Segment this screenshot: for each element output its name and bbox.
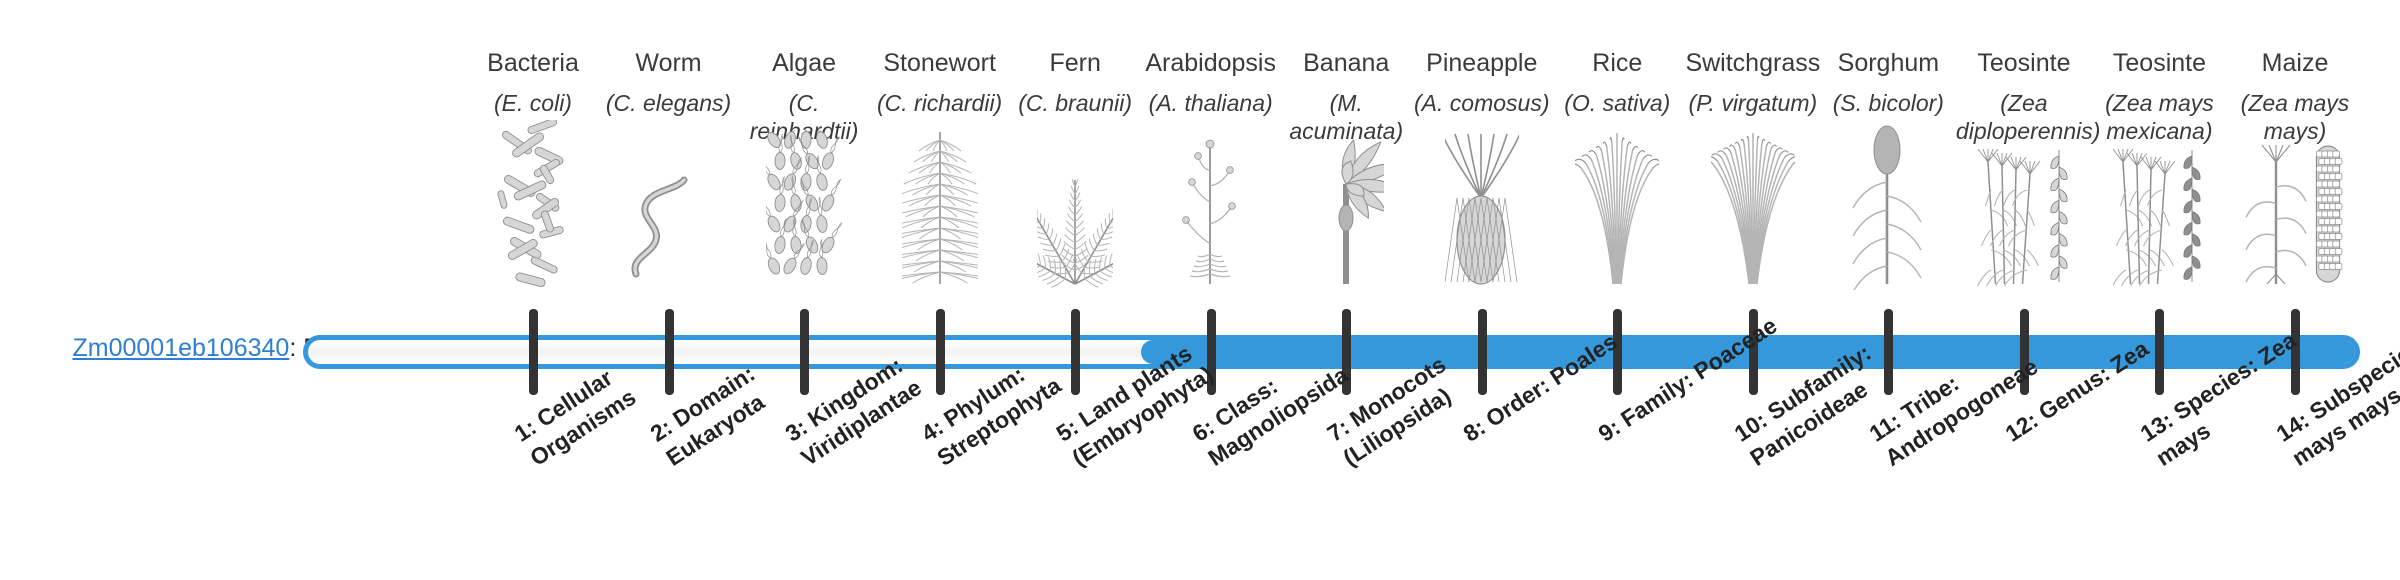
banana-icon xyxy=(1278,160,1414,290)
species-column-8: Pineapple(A. comosus) xyxy=(1414,48,1550,117)
switchgrass-icon xyxy=(1685,160,1821,290)
gene-id-link[interactable]: Zm00001eb106340 xyxy=(72,334,289,362)
species-common-name: Worm xyxy=(601,48,737,78)
species-column-9: Rice(O. sativa) xyxy=(1549,48,1685,117)
phylostratum-figure: Zm00001eb106340: Phylostratum 6 Bacteria… xyxy=(0,0,2400,580)
species-column-1: Bacteria(E. coli) xyxy=(465,48,601,117)
species-common-name: Algae xyxy=(736,48,872,78)
species-latin-name: (A. comosus) xyxy=(1414,89,1550,117)
species-common-name: Switchgrass xyxy=(1685,48,1821,78)
species-common-name: Rice xyxy=(1549,48,1685,78)
bacteria-icon xyxy=(465,160,601,290)
gene-label-separator: : xyxy=(289,334,303,362)
species-common-name: Sorghum xyxy=(1820,48,1956,78)
arabidopsis-icon xyxy=(1143,160,1279,290)
species-column-6: Arabidopsis(A. thaliana) xyxy=(1143,48,1279,117)
species-latin-name: (C. richardii) xyxy=(872,89,1008,117)
species-column-5: Fern(C. braunii) xyxy=(1007,48,1143,117)
species-column-11: Sorghum(S. bicolor) xyxy=(1820,48,1956,117)
fern-icon xyxy=(1007,160,1143,290)
species-column-14: Maize(Zea mays mays) xyxy=(2227,48,2363,145)
species-column-12: Teosinte(Zea diploperennis) xyxy=(1956,48,2092,145)
species-common-name: Stonewort xyxy=(872,48,1008,78)
timeline-tick-1[interactable] xyxy=(529,309,538,395)
species-latin-name: (S. bicolor) xyxy=(1820,89,1956,117)
species-latin-name: (A. thaliana) xyxy=(1143,89,1279,117)
species-column-13: Teosinte(Zea mays mexicana) xyxy=(2091,48,2227,145)
species-common-name: Arabidopsis xyxy=(1143,48,1279,78)
species-common-name: Pineapple xyxy=(1414,48,1550,78)
species-common-name: Teosinte xyxy=(2091,48,2227,78)
pineapple-icon xyxy=(1414,160,1550,290)
teosinte-diplo-icon xyxy=(1956,160,2092,290)
species-column-3: Algae(C. reinhardtii) xyxy=(736,48,872,145)
species-latin-name: (P. virgatum) xyxy=(1685,89,1821,117)
species-latin-name: (Zea mays mays) xyxy=(2227,89,2363,145)
species-latin-name: (C. braunii) xyxy=(1007,89,1143,117)
species-common-name: Fern xyxy=(1007,48,1143,78)
species-column-4: Stonewort(C. richardii) xyxy=(872,48,1008,117)
teosinte-mexicana-icon xyxy=(2091,160,2227,290)
species-column-7: Banana(M. acuminata) xyxy=(1278,48,1414,145)
algae-icon xyxy=(736,160,872,290)
rice-icon xyxy=(1549,160,1685,290)
species-common-name: Teosinte xyxy=(1956,48,2092,78)
sorghum-icon xyxy=(1820,160,1956,290)
species-latin-name: (Zea diploperennis) xyxy=(1956,89,2092,145)
species-header-band: Bacteria(E. coli)Worm(C. elegans)Algae(C… xyxy=(470,48,2370,308)
species-latin-name: (E. coli) xyxy=(465,89,601,117)
species-column-10: Switchgrass(P. virgatum) xyxy=(1685,48,1821,117)
species-common-name: Maize xyxy=(2227,48,2363,78)
worm-icon xyxy=(601,160,737,290)
maize-icon xyxy=(2227,160,2363,290)
species-common-name: Banana xyxy=(1278,48,1414,78)
species-latin-name: (Zea mays mexicana) xyxy=(2091,89,2227,145)
species-latin-name: (O. sativa) xyxy=(1549,89,1685,117)
species-common-name: Bacteria xyxy=(465,48,601,78)
species-column-2: Worm(C. elegans) xyxy=(601,48,737,117)
stonewort-icon xyxy=(872,160,1008,290)
species-latin-name: (C. elegans) xyxy=(601,89,737,117)
